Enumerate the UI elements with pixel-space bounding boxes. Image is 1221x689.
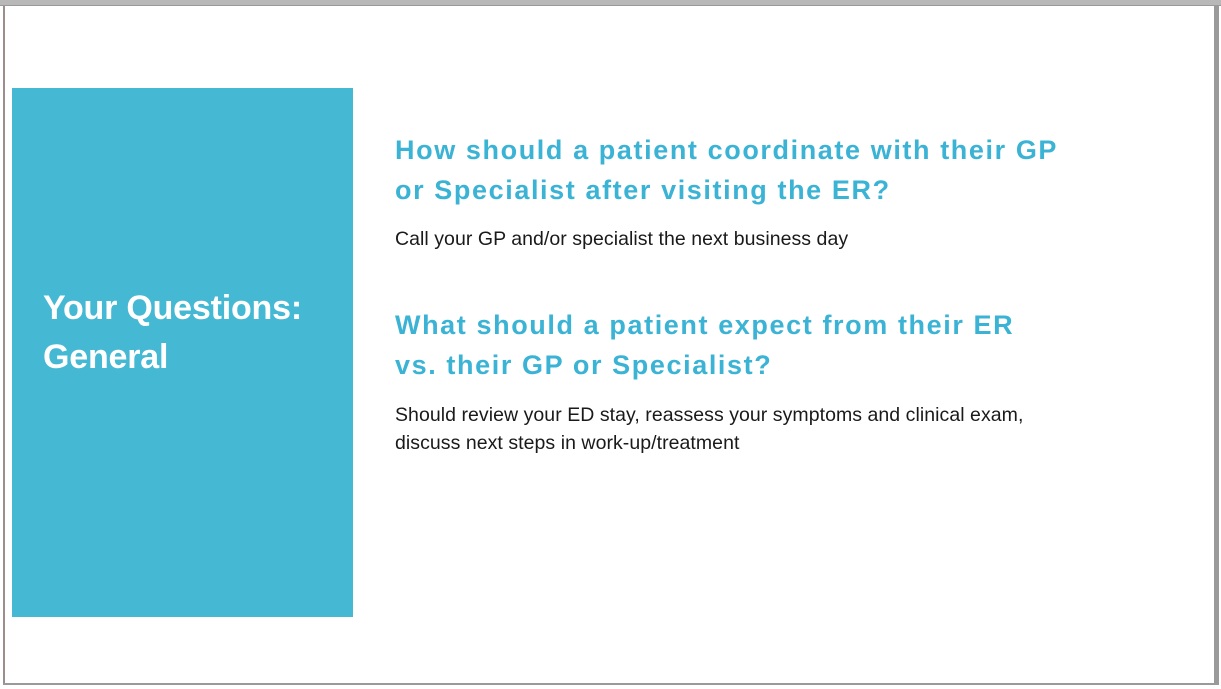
document-window: Your Questions: General How should a pat… xyxy=(0,0,1221,689)
window-frame-right xyxy=(1214,6,1219,684)
slide-canvas: Your Questions: General How should a pat… xyxy=(5,7,1214,683)
slide-title: Your Questions: General xyxy=(43,284,333,382)
qa-body: Should review your ED stay, reassess you… xyxy=(395,401,1085,457)
window-frame-top xyxy=(0,0,1221,6)
qa-body: Call your GP and/or specialist the next … xyxy=(395,225,1105,253)
qa-block: How should a patient coordinate with the… xyxy=(395,130,1105,253)
qa-heading: How should a patient coordinate with the… xyxy=(395,130,1095,210)
title-panel: Your Questions: General xyxy=(12,88,353,617)
window-frame-bottom xyxy=(3,683,1219,685)
qa-content-column: How should a patient coordinate with the… xyxy=(395,130,1105,457)
qa-block: What should a patient expect from their … xyxy=(395,305,1105,457)
vertical-scrollbar-track[interactable] xyxy=(1180,7,1214,683)
qa-heading: What should a patient expect from their … xyxy=(395,305,1035,385)
